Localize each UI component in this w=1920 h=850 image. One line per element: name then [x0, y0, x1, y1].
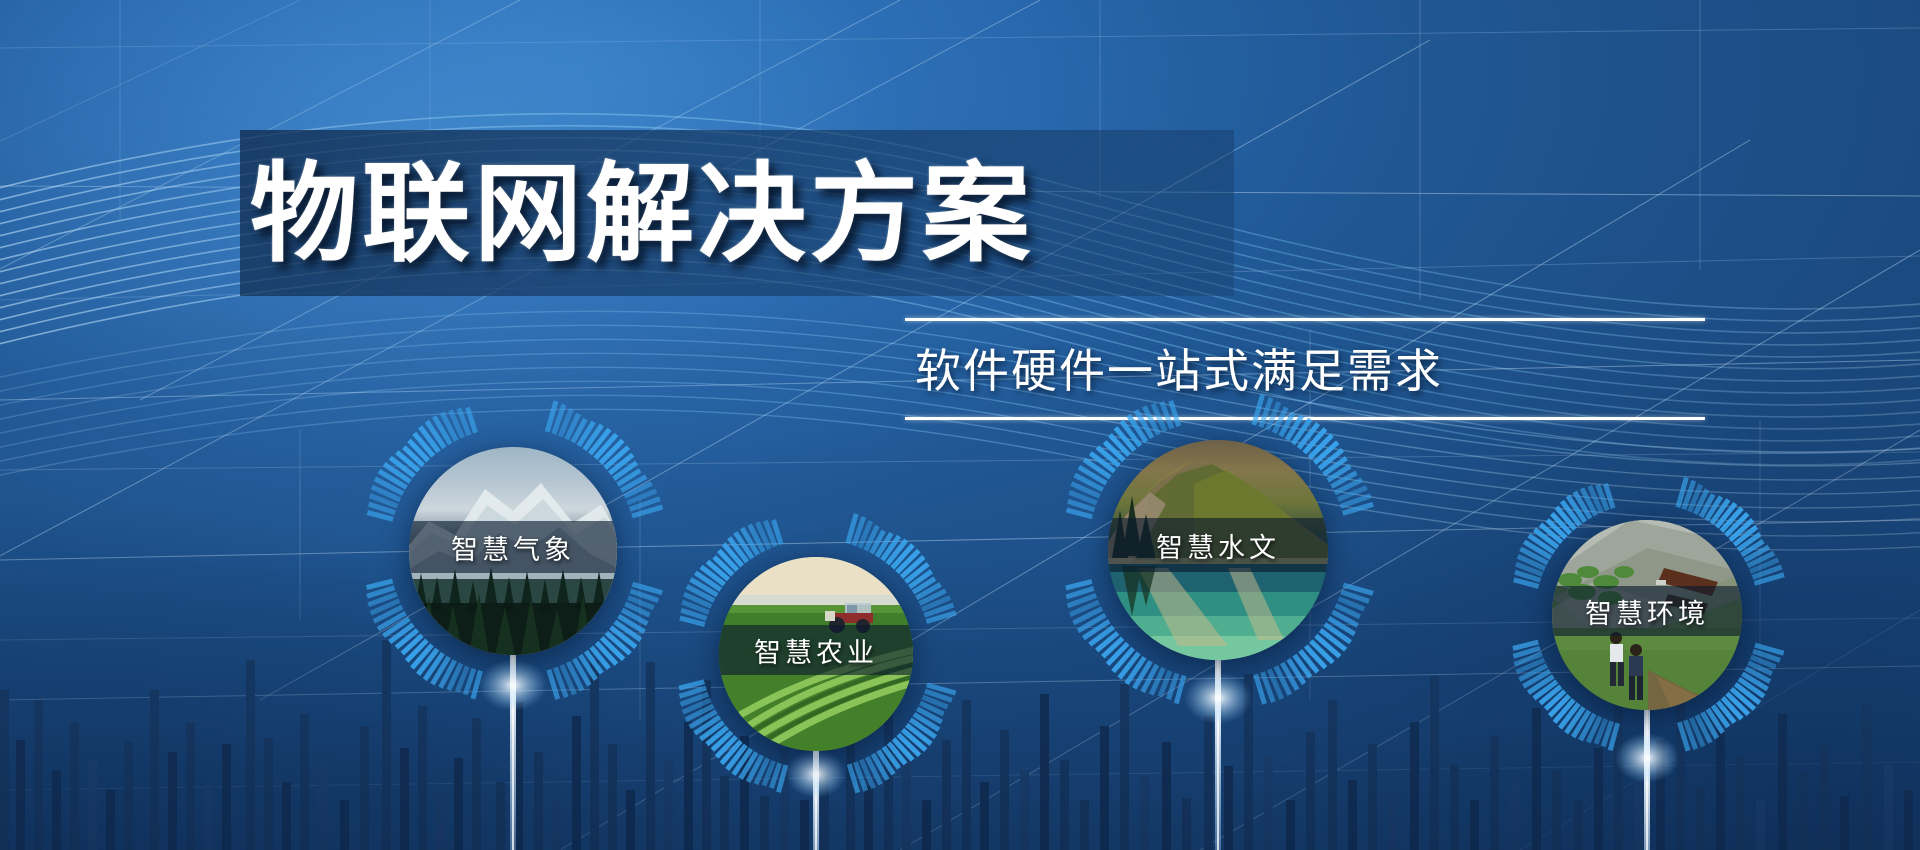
node-label-band-agriculture: 智慧农业 [719, 625, 913, 675]
node-label-band-environment: 智慧环境 [1552, 586, 1742, 636]
node-agriculture[interactable]: 智慧农业 [646, 484, 986, 824]
node-label-meteorology: 智慧气象 [451, 528, 575, 567]
node-label-band-meteorology: 智慧气象 [409, 521, 617, 573]
node-image-agriculture: 智慧农业 [719, 557, 913, 751]
node-image-meteorology: 智慧气象 [409, 447, 617, 655]
node-label-hydrology: 智慧水文 [1156, 526, 1280, 565]
node-label-agriculture: 智慧农业 [754, 631, 878, 670]
node-image-hydrology: 智慧水文 [1108, 440, 1328, 660]
node-hydrology[interactable]: 智慧水文 [1028, 360, 1408, 740]
iot-solution-banner: 物联网解决方案 软件硬件一站式满足需求 [0, 0, 1920, 850]
page-title: 物联网解决方案 [250, 134, 1034, 294]
node-meteorology[interactable]: 智慧气象 [329, 367, 697, 735]
node-image-environment: 智慧环境 [1552, 520, 1742, 710]
node-label-environment: 智慧环境 [1585, 592, 1709, 631]
node-environment[interactable]: 智慧环境 [1480, 448, 1814, 782]
node-label-band-hydrology: 智慧水文 [1108, 518, 1328, 572]
